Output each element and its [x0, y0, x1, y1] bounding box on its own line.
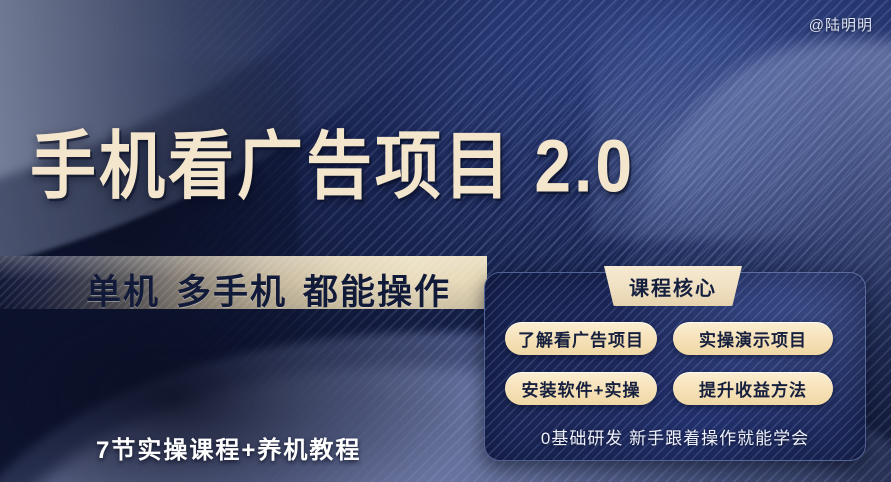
feature-pill-1[interactable]: 了解看广告项目 [505, 322, 657, 355]
course-promo-poster: @陆明明 手机看广告项目 2.0 单机多手机都能操作 7节实操课程+养机教程 课… [0, 0, 891, 482]
subtitle: 单机多手机都能操作 [86, 264, 451, 315]
panel-ribbon-label: 课程核心 [629, 272, 717, 301]
feature-pill-4[interactable]: 提升收益方法 [673, 372, 833, 405]
feature-pill-2[interactable]: 实操演示项目 [673, 322, 833, 355]
subtitle-part-0: 单机 [86, 273, 160, 312]
feature-pill-3[interactable]: 安装软件+实操 [505, 372, 657, 405]
subtitle-part-1: 多手机 [176, 273, 287, 312]
author-watermark: @陆明明 [809, 14, 873, 35]
panel-ribbon-header: 课程核心 [604, 266, 742, 306]
page-title: 手机看广告项目 2.0 [30, 129, 635, 203]
panel-footnote: 0基础研发 新手跟着操作就能学会 [484, 424, 866, 449]
course-caption: 7节实操课程+养机教程 [96, 430, 361, 465]
subtitle-part-2: 都能操作 [303, 273, 451, 312]
